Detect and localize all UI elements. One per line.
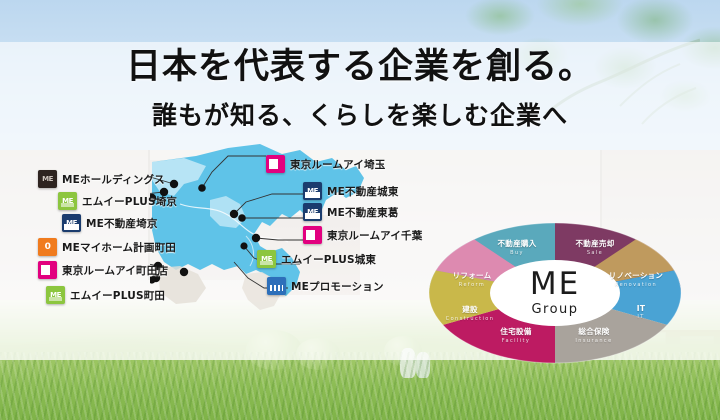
hero-banner: 日本を代表する企業を創る。 誰もが知る、くらしを楽しむ企業へ <box>0 0 720 420</box>
me-fudosan-joto-icon: ME <box>303 182 322 200</box>
company-name: エムイーPLUS町田 <box>70 288 165 303</box>
company-name: エムイーPLUS城東 <box>281 252 376 267</box>
company-label-5[interactable]: ME エムイーPLUS町田 <box>46 286 165 304</box>
company-label-1[interactable]: ME エムイーPLUS埼京 <box>58 192 177 210</box>
company-name: エムイーPLUS埼京 <box>82 194 177 209</box>
me-fudosan-tokatsu-icon: ME <box>303 203 322 221</box>
tokyo-roomeye-machida-icon <box>38 261 57 279</box>
company-label-3[interactable]: 0 MEマイホーム計画町田 <box>38 238 176 256</box>
company-name: MEプロモーション <box>291 279 384 294</box>
company-name: 東京ルームアイ埼玉 <box>290 157 385 172</box>
company-label-8[interactable]: ME ME不動産東葛 <box>303 203 399 221</box>
company-label-6[interactable]: 東京ルームアイ埼玉 <box>266 155 385 173</box>
company-name: MEマイホーム計画町田 <box>62 240 176 255</box>
company-label-7[interactable]: ME ME不動産城東 <box>303 182 399 200</box>
me-group-wheel: 不動産購入Buy 不動産売却Sale リノベーションRenovation ITI… <box>428 222 682 368</box>
company-name: ME不動産東葛 <box>327 205 399 220</box>
wheel-center-logo: ME Group <box>490 264 620 322</box>
me-promotion-icon <box>267 277 286 295</box>
company-label-11[interactable]: MEプロモーション <box>267 277 384 295</box>
page-title: 日本を代表する企業を創る。 <box>0 38 720 89</box>
page-subtitle: 誰もが知る、くらしを楽しむ企業へ <box>0 96 720 132</box>
wheel-center-title: ME <box>530 269 580 300</box>
company-name: 東京ルームアイ町田店 <box>62 263 168 278</box>
me-plus-machida-icon: ME <box>46 286 65 304</box>
company-name: ME不動産城東 <box>327 184 399 199</box>
tokyo-roomeye-saitama-icon <box>266 155 285 173</box>
me-fudosan-saikyo-icon: ME <box>62 214 81 232</box>
company-name: ME不動産埼京 <box>86 216 158 231</box>
company-label-2[interactable]: ME ME不動産埼京 <box>62 214 158 232</box>
company-label-10[interactable]: ME エムイーPLUS城東 <box>257 250 376 268</box>
company-name: MEホールディングス <box>62 172 165 187</box>
me-holdings-icon: ME <box>38 170 57 188</box>
tokyo-roomeye-chiba-icon <box>303 226 322 244</box>
company-label-4[interactable]: 東京ルームアイ町田店 <box>38 261 168 279</box>
me-myhome-machida-icon: 0 <box>38 238 57 256</box>
company-label-0[interactable]: ME MEホールディングス <box>38 170 165 188</box>
me-plus-saikyo-icon: ME <box>58 192 77 210</box>
company-name: 東京ルームアイ千葉 <box>327 228 422 243</box>
me-plus-joto-icon: ME <box>257 250 276 268</box>
wheel-center-subtitle: Group <box>531 302 578 317</box>
company-label-9[interactable]: 東京ルームアイ千葉 <box>303 226 422 244</box>
